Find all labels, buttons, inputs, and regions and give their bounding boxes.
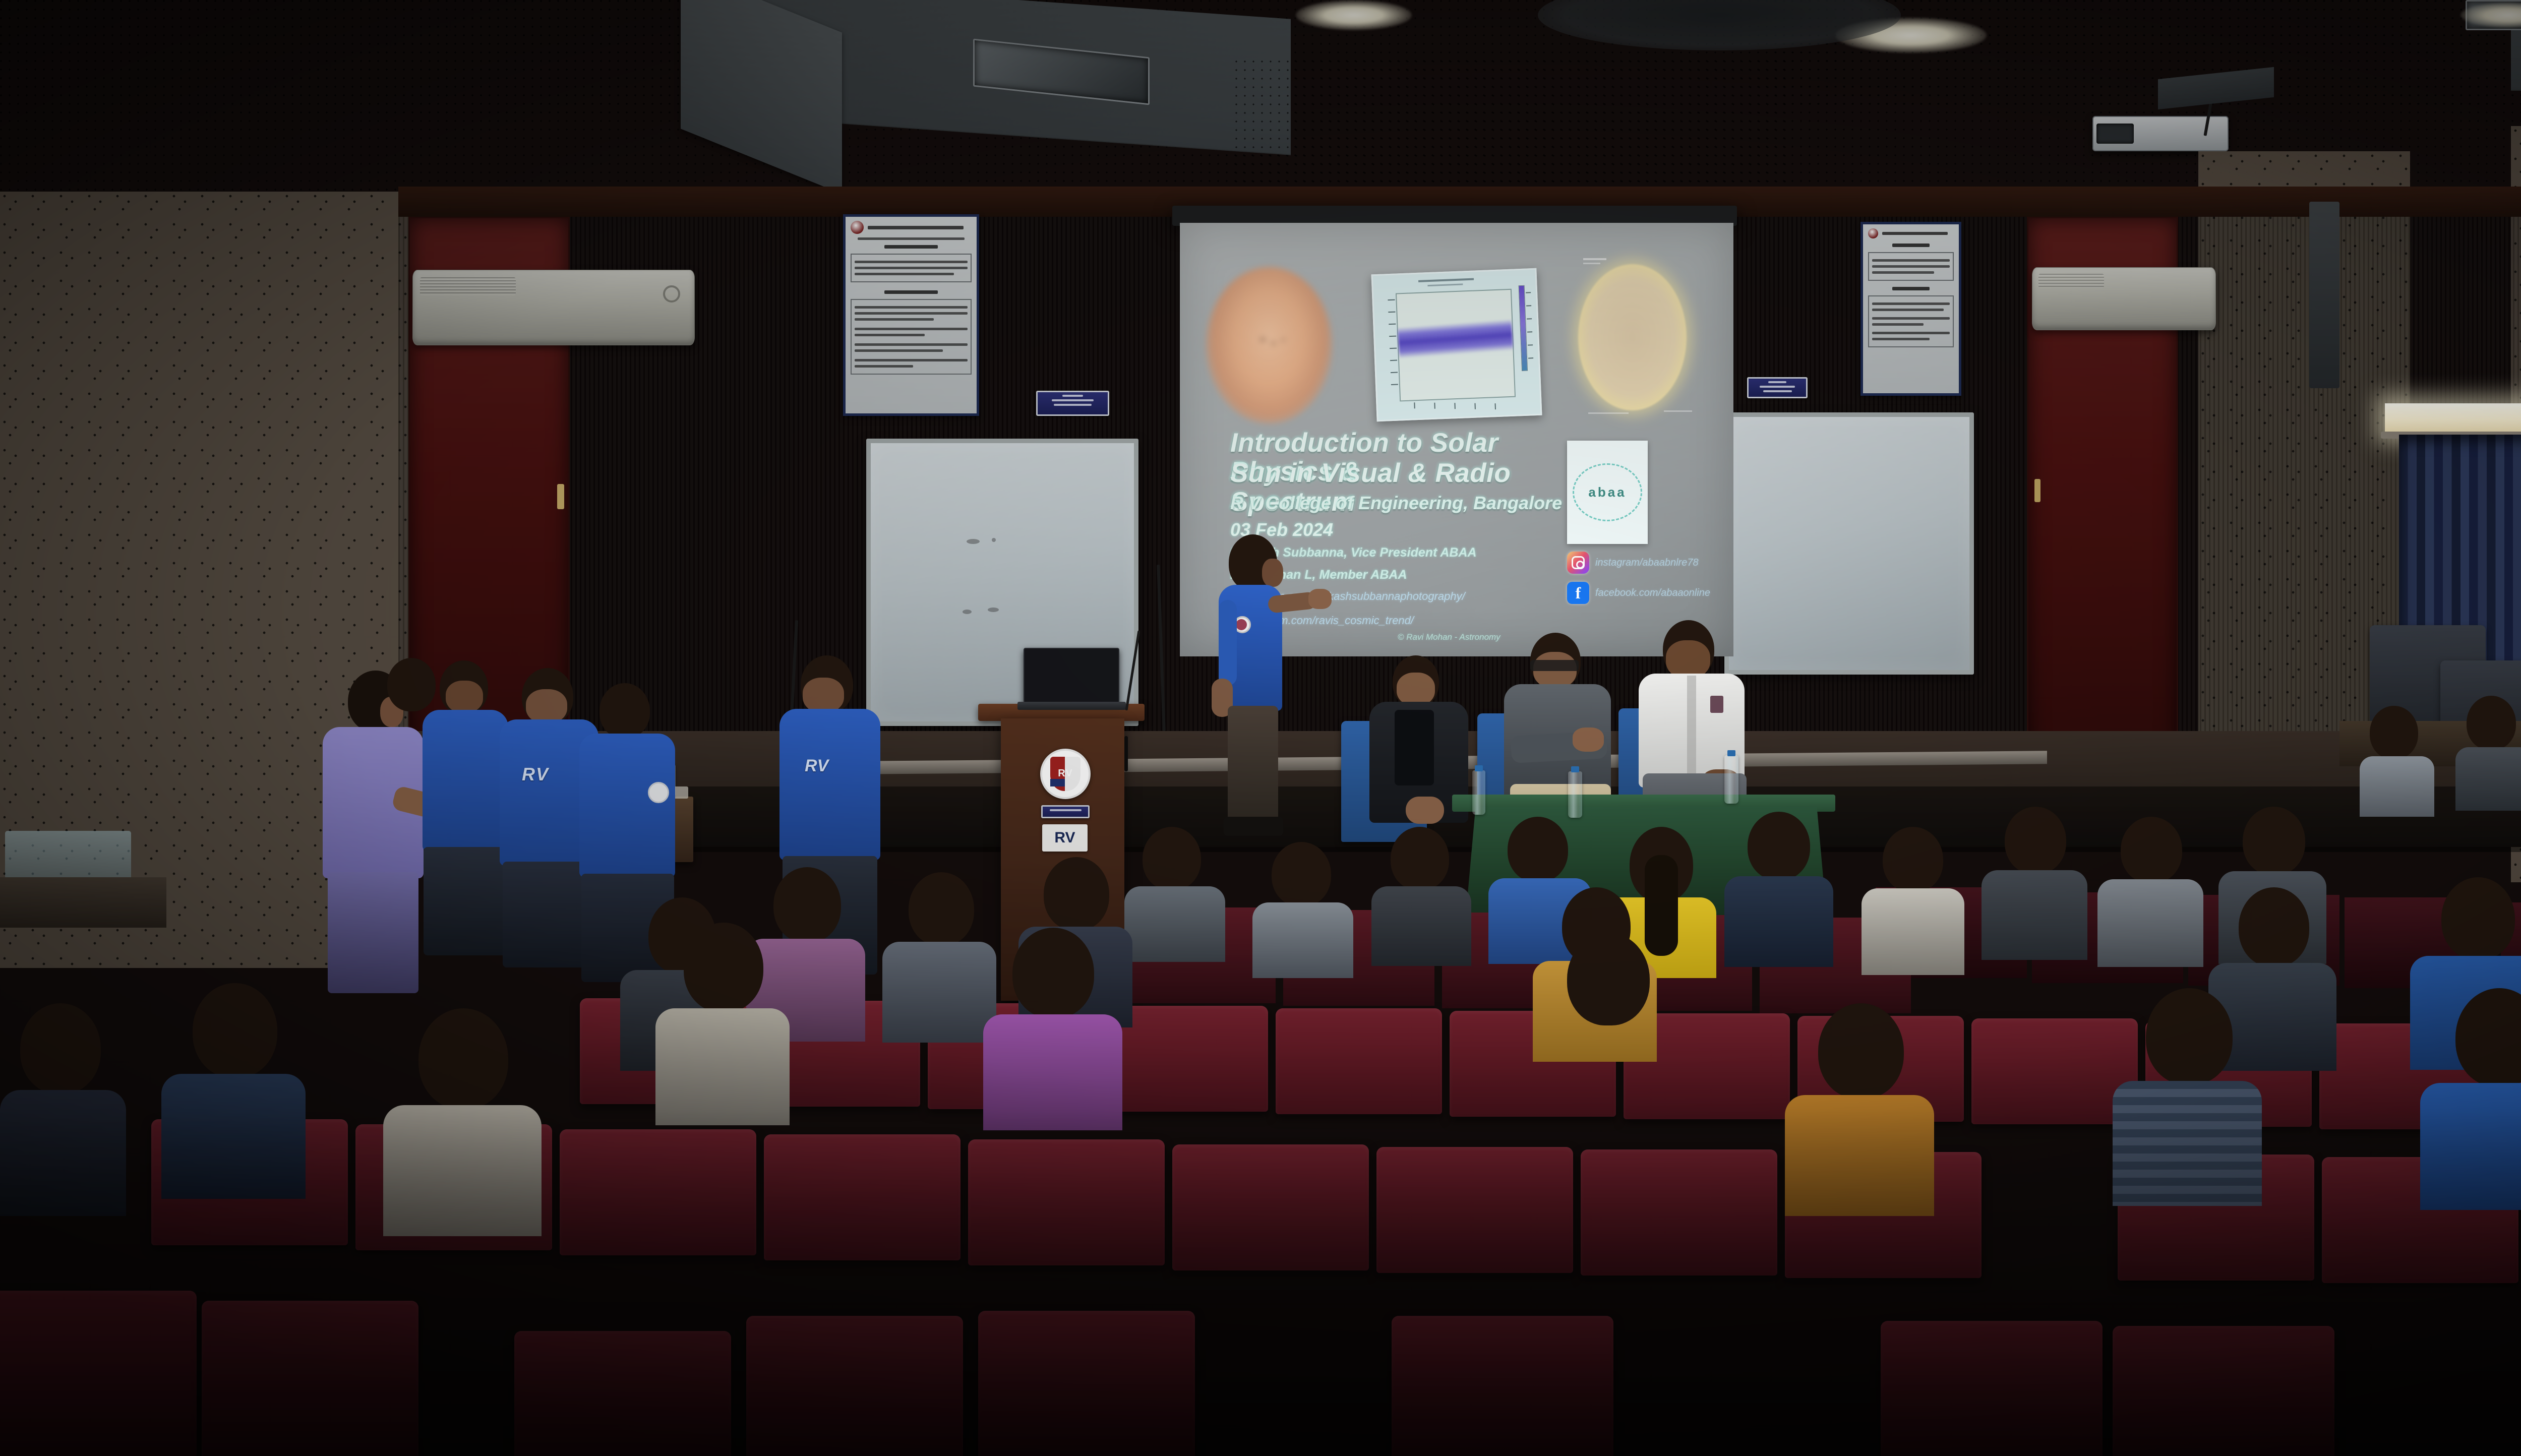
volunteer-d-shirt-text: RV bbox=[805, 756, 828, 776]
notice-left-heading-vision bbox=[884, 245, 938, 249]
presenter bbox=[1208, 534, 1298, 847]
spectrogram-emission-band bbox=[1398, 319, 1514, 358]
seat-row-e-4[interactable] bbox=[764, 1134, 961, 1260]
seat-row-f-1[interactable] bbox=[0, 1291, 197, 1456]
audience-torso bbox=[1371, 886, 1471, 966]
audience-torso-orange bbox=[1785, 1095, 1934, 1216]
laptop[interactable] bbox=[1024, 648, 1119, 703]
audience-torso bbox=[383, 1105, 542, 1236]
audience-head bbox=[418, 1008, 508, 1109]
water-bottle-2[interactable] bbox=[1568, 771, 1582, 818]
audience-person-front-1 bbox=[1785, 1003, 1936, 1215]
audience-head bbox=[909, 872, 974, 946]
air-conditioner-left bbox=[412, 270, 695, 345]
audience-person-mid-1 bbox=[2360, 706, 2435, 812]
audience-person-front-6 bbox=[0, 1003, 131, 1215]
audience-torso bbox=[161, 1074, 306, 1199]
seat-row-e-8[interactable] bbox=[1581, 1149, 1777, 1276]
presenter-shoes bbox=[1224, 817, 1283, 836]
spectrogram-plot-area bbox=[1396, 289, 1516, 402]
panelist-3-pocket bbox=[1710, 696, 1723, 713]
audience-person-2 bbox=[1250, 842, 1356, 973]
audience-person-1 bbox=[1124, 827, 1225, 958]
presenter-hand bbox=[1308, 589, 1332, 609]
audience-head bbox=[684, 923, 763, 1012]
slide-image-caption-mark bbox=[1583, 263, 1600, 264]
audience-torso bbox=[1124, 886, 1225, 962]
whiteboard-mark bbox=[967, 539, 980, 544]
volunteer-blue-c-head bbox=[599, 683, 650, 739]
volunteer-blue-a-face bbox=[446, 681, 483, 713]
wall-speaker-right bbox=[2309, 202, 2339, 388]
rv-crest-icon bbox=[851, 221, 864, 234]
social-row-facebook[interactable]: f facebook.com/abaaonline bbox=[1567, 582, 1710, 604]
audience-head bbox=[2005, 807, 2066, 874]
audience-torso bbox=[1862, 888, 1964, 975]
podium-rv-sign: RV bbox=[1042, 824, 1088, 852]
seat-row-e-7[interactable] bbox=[1376, 1147, 1573, 1273]
panelist-3-face bbox=[1666, 640, 1710, 679]
spectrogram-colorbar bbox=[1519, 285, 1528, 371]
notice-left-vision-box bbox=[851, 254, 972, 282]
audience-head bbox=[1508, 817, 1568, 882]
panelist-1-jacket-front bbox=[1395, 710, 1434, 785]
audience-head bbox=[1272, 842, 1331, 906]
audience-torso bbox=[1982, 870, 2087, 960]
audience-person-front-5 bbox=[383, 1008, 545, 1235]
seat-row-d-5[interactable] bbox=[1276, 1008, 1442, 1114]
abaa-logo-card: abaa bbox=[1567, 441, 1648, 544]
volunteer-blue-c-jersey bbox=[579, 734, 675, 877]
air-conditioner-right bbox=[2032, 267, 2216, 330]
auditorium-photo-scene: Introduction to Solar Physics & Sun in V… bbox=[0, 0, 2521, 1456]
slide-image-spectrogram bbox=[1371, 268, 1542, 421]
whiteboard-mark bbox=[963, 610, 972, 614]
panelist-1-hands bbox=[1406, 797, 1444, 824]
facebook-icon[interactable]: f bbox=[1567, 582, 1589, 604]
audience-torso bbox=[2360, 756, 2434, 817]
audience-person-7 bbox=[1860, 827, 1966, 973]
audience-person-3 bbox=[1371, 827, 1472, 963]
audience-torso bbox=[882, 942, 996, 1043]
standing-person-extra bbox=[383, 658, 444, 734]
ac-left-vent-grill bbox=[420, 277, 516, 295]
side-counter-left bbox=[0, 877, 166, 928]
audience-torso bbox=[1252, 902, 1353, 978]
audience-person-6 bbox=[1724, 812, 1835, 963]
rv-crest-icon-right bbox=[1868, 228, 1878, 238]
audience-head bbox=[1143, 827, 1201, 890]
audience-head bbox=[2146, 988, 2233, 1085]
whiteboard-right bbox=[1724, 412, 1974, 675]
audience-head bbox=[20, 1003, 101, 1094]
seat-row-e-6[interactable] bbox=[1172, 1144, 1369, 1270]
audience-head bbox=[2243, 807, 2305, 875]
audience-head bbox=[1748, 812, 1810, 880]
slide-image-sun-halpha bbox=[1578, 264, 1687, 410]
presenter-face bbox=[1262, 559, 1283, 587]
audience-person-8 bbox=[1982, 807, 2090, 958]
water-bottle-3[interactable] bbox=[1724, 755, 1738, 804]
bottle-cap bbox=[1571, 766, 1579, 772]
panelist-2-hand bbox=[1573, 727, 1604, 752]
slide-subtitle: R V College of Engineering, Bangalore bbox=[1230, 493, 1593, 514]
audience-torso bbox=[2455, 747, 2521, 811]
audience-head bbox=[1883, 827, 1943, 892]
seat-row-f-5[interactable] bbox=[978, 1311, 1195, 1456]
door-handle-right[interactable] bbox=[2034, 479, 2040, 502]
bottle-cap bbox=[1475, 765, 1483, 771]
microphone-stand bbox=[1124, 736, 1128, 771]
audience-person-front-2 bbox=[2113, 988, 2264, 1205]
whiteboard-mark bbox=[992, 538, 996, 542]
seat-row-f-2[interactable] bbox=[202, 1301, 418, 1456]
whiteboard-mark bbox=[988, 608, 999, 612]
instagram-handle[interactable]: instagram/abaabnlre78 bbox=[1595, 557, 1699, 569]
notice-right-mission-box bbox=[1868, 295, 1954, 347]
volunteer-blue-d-jersey bbox=[779, 709, 880, 860]
door-handle-left[interactable] bbox=[557, 484, 564, 509]
audience-person-mid-2 bbox=[2455, 696, 2521, 807]
audience-head bbox=[2239, 887, 2309, 967]
ac-right-vent-grill bbox=[2038, 274, 2104, 288]
slide-image-caption-mark bbox=[1588, 412, 1629, 414]
facebook-handle[interactable]: facebook.com/abaaonline bbox=[1595, 587, 1710, 599]
seat-row-f-3[interactable] bbox=[514, 1331, 731, 1456]
slide-image-sun-visible bbox=[1206, 267, 1332, 423]
window-daylight bbox=[2385, 403, 2521, 434]
projector-lens bbox=[2096, 124, 2134, 144]
panelist-2-glasses-icon bbox=[1530, 660, 1579, 671]
audience-head bbox=[2467, 696, 2516, 750]
audience-head bbox=[1818, 1003, 1904, 1099]
panelist-1-face bbox=[1397, 673, 1435, 706]
audience-head bbox=[1012, 928, 1094, 1018]
audience-head bbox=[2370, 706, 2418, 759]
audience-person-front-4 bbox=[161, 983, 308, 1200]
audience-torso bbox=[655, 1008, 790, 1125]
standing-person-head bbox=[387, 658, 436, 711]
notice-right-heading-vision bbox=[1892, 244, 1930, 247]
seat-row-f-8[interactable] bbox=[2113, 1326, 2334, 1456]
audience-person-front-8 bbox=[983, 928, 1124, 1129]
notice-right-vision-box bbox=[1868, 252, 1954, 281]
slide-footer-credit: © Ravi Mohan - Astronomy bbox=[1398, 632, 1500, 642]
instagram-icon[interactable] bbox=[1567, 552, 1589, 574]
abaa-logo-text: abaa bbox=[1573, 463, 1642, 521]
audience-torso-striped bbox=[2113, 1081, 2262, 1206]
audience-head bbox=[2441, 877, 2515, 960]
slide-image-caption-mark bbox=[1664, 410, 1692, 412]
nameplate-left bbox=[1036, 391, 1109, 416]
audience-person-front-7 bbox=[655, 923, 792, 1124]
notice-left-heading-mission bbox=[884, 290, 938, 294]
audience-person-front-3 bbox=[2420, 988, 2521, 1210]
podium-nameplate bbox=[1041, 805, 1090, 818]
volunteer-sleeve-badge bbox=[648, 782, 669, 803]
audience-head bbox=[1567, 933, 1650, 1025]
audience-head bbox=[193, 983, 277, 1078]
presenter-sleeve-badge-inner bbox=[1236, 619, 1247, 630]
ceiling-panel-left bbox=[0, 0, 756, 116]
notice-left-mission-box bbox=[851, 299, 972, 375]
audience-person-12 bbox=[882, 872, 998, 1039]
notice-right-heading-mission bbox=[1892, 287, 1930, 290]
rv-shield: RV bbox=[1050, 757, 1081, 791]
notice-board-left bbox=[843, 214, 979, 416]
audience-person-front-9 bbox=[1538, 933, 1679, 1139]
social-row-instagram[interactable]: instagram/abaabnlre78 bbox=[1567, 552, 1699, 574]
presenter-legs bbox=[1228, 706, 1278, 822]
seat-row-f-7[interactable] bbox=[1881, 1321, 2103, 1456]
ceiling-light-1 bbox=[1296, 0, 1412, 30]
ac-left-knob bbox=[663, 285, 680, 302]
bottle-cap bbox=[1727, 750, 1735, 756]
audience-torso bbox=[1724, 876, 1833, 967]
audience-head bbox=[1391, 827, 1449, 890]
audience-torso bbox=[2420, 1083, 2521, 1210]
audience-torso bbox=[983, 1014, 1122, 1130]
nameplate-right bbox=[1747, 377, 1808, 398]
panelist-3-shirt-placket bbox=[1687, 676, 1696, 781]
ceiling-panel-center bbox=[1235, 60, 1790, 192]
volunteer-purple-lower bbox=[328, 872, 418, 993]
volunteer-blue-b-face bbox=[526, 689, 567, 723]
water-bottle-1[interactable] bbox=[1472, 770, 1485, 815]
volunteer-blue-a-lower bbox=[424, 847, 507, 955]
seat-row-e-3[interactable] bbox=[560, 1129, 756, 1255]
audience-head bbox=[1044, 857, 1109, 931]
seat-row-f-4[interactable] bbox=[746, 1316, 963, 1456]
rv-college-emblem-icon: RV bbox=[1040, 749, 1091, 799]
audience-torso bbox=[2097, 879, 2203, 967]
audience-torso bbox=[0, 1090, 126, 1216]
audience-head bbox=[2121, 817, 2182, 883]
volunteer-blue-d-face bbox=[803, 678, 844, 713]
notice-board-right bbox=[1860, 222, 1961, 396]
audience-head bbox=[2455, 988, 2521, 1087]
laptop-base bbox=[1017, 702, 1126, 710]
slide-image-caption-mark bbox=[1583, 258, 1606, 260]
seat-row-f-6[interactable] bbox=[1392, 1316, 1613, 1456]
volunteer-shirt-text: RV bbox=[522, 764, 549, 785]
audience-person-9 bbox=[2097, 817, 2206, 963]
presenter-arm-left bbox=[1219, 600, 1237, 686]
seat-row-e-5[interactable] bbox=[968, 1139, 1165, 1265]
